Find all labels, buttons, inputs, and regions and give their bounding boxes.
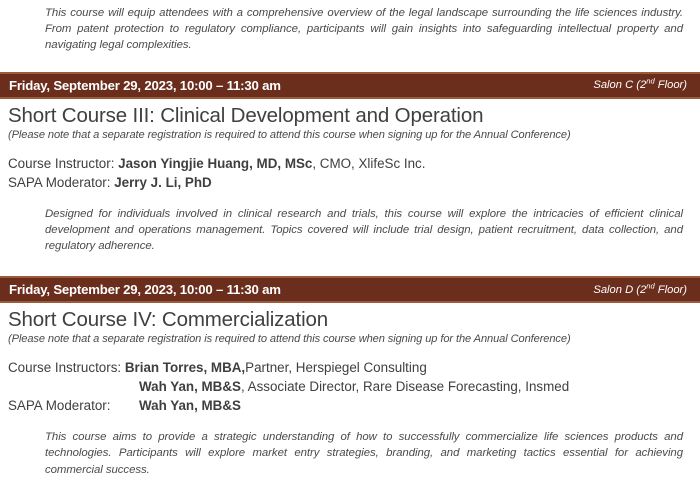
spacer-before-session-2: [0, 254, 700, 276]
person-name: Wah Yan, MB&S: [139, 396, 241, 415]
person-row: Wah Yan, MB&S , Associate Director, Rare…: [8, 377, 700, 396]
people-block-1: Course Instructor: Jason Yingjie Huang, …: [0, 143, 700, 192]
role-label: Course Instructors:: [8, 358, 121, 377]
person-affiliation: , CMO, XlifeSc Inc.: [312, 154, 425, 173]
session-room-suffix-1: Floor): [655, 79, 687, 91]
role-label: SAPA Moderator:: [8, 173, 110, 192]
session-room-ordinal-2: nd: [646, 281, 654, 290]
session-room-ordinal-1: nd: [646, 76, 654, 85]
session-header-bar-2: Friday, September 29, 2023, 10:00 – 11:3…: [0, 276, 700, 303]
role-label: Course Instructor:: [8, 154, 114, 173]
session-block-2: Friday, September 29, 2023, 10:00 – 11:3…: [0, 276, 700, 478]
session-room-name-1: Salon C (2: [593, 79, 646, 91]
person-affiliation: Partner, Herspiegel Consulting: [245, 358, 427, 377]
person-name: Brian Torres, MBA,: [125, 358, 245, 377]
session-room-2: Salon D (2nd Floor): [593, 284, 691, 296]
person-affiliation: , Associate Director, Rare Disease Forec…: [241, 377, 569, 396]
session-block-1: Friday, September 29, 2023, 10:00 – 11:3…: [0, 72, 700, 255]
session-room-suffix-2: Floor): [655, 284, 687, 296]
person-row: Course Instructor: Jason Yingjie Huang, …: [8, 154, 700, 173]
spacer: [0, 192, 700, 206]
course-description-2: This course aims to provide a strategic …: [0, 429, 700, 478]
course-title-2: Short Course IV: Commercialization: [0, 303, 700, 332]
role-label: SAPA Moderator:: [8, 396, 139, 415]
person-name: Wah Yan, MB&S: [139, 377, 241, 396]
intro-description-paragraph: This course will equip attendees with a …: [0, 5, 700, 54]
person-name: Jason Yingjie Huang, MD, MSc: [118, 154, 312, 173]
person-name: Jerry J. Li, PhD: [114, 173, 212, 192]
course-description-1: Designed for individuals involved in cli…: [0, 206, 700, 255]
course-title-1: Short Course III: Clinical Development a…: [0, 99, 700, 128]
spacer-before-session-1: [0, 54, 700, 72]
person-row: SAPA Moderator: Wah Yan, MB&S: [8, 396, 700, 415]
person-row: SAPA Moderator: Jerry J. Li, PhD: [8, 173, 700, 192]
session-room-name-2: Salon D (2: [593, 284, 646, 296]
course-registration-note-2: (Please note that a separate registratio…: [0, 332, 700, 347]
person-row: Course Instructors: Brian Torres, MBA, P…: [8, 358, 700, 377]
spacer: [0, 415, 700, 429]
session-room-1: Salon C (2nd Floor): [593, 79, 691, 91]
conference-agenda-page: This course will equip attendees with a …: [0, 0, 700, 461]
session-datetime-2: Friday, September 29, 2023, 10:00 – 11:3…: [9, 282, 281, 297]
session-header-bar-1: Friday, September 29, 2023, 10:00 – 11:3…: [0, 72, 700, 99]
course-registration-note-1: (Please note that a separate registratio…: [0, 128, 700, 143]
people-block-2: Course Instructors: Brian Torres, MBA, P…: [0, 347, 700, 415]
session-datetime-1: Friday, September 29, 2023, 10:00 – 11:3…: [9, 78, 281, 93]
